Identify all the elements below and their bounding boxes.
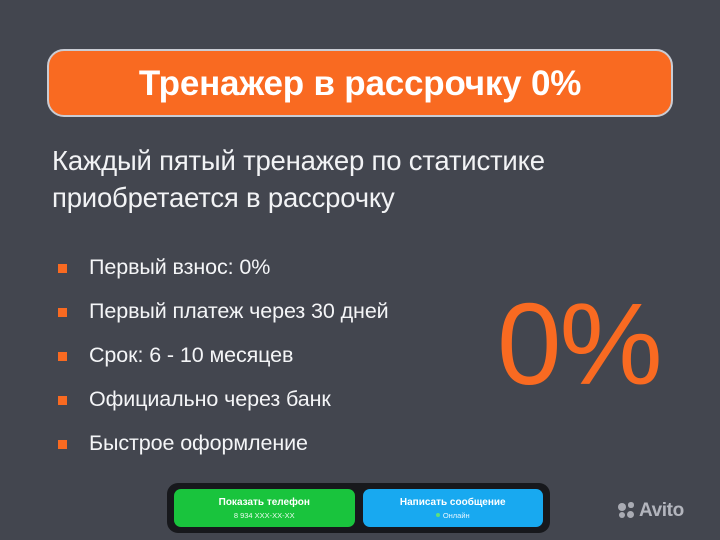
feature-label: Первый взнос: 0% xyxy=(89,257,270,279)
square-bullet-icon xyxy=(58,396,67,405)
list-item: Первый взнос: 0% xyxy=(58,246,528,290)
feature-label: Срок: 6 - 10 месяцев xyxy=(89,345,293,367)
write-message-label: Написать сообщение xyxy=(400,497,506,509)
list-item: Первый платеж через 30 дней xyxy=(58,290,528,334)
avito-wordmark: Avito xyxy=(639,501,684,520)
write-message-button[interactable]: Написать сообщение Онлайн xyxy=(363,489,544,527)
show-phone-label: Показать телефон xyxy=(219,497,310,509)
list-item: Срок: 6 - 10 месяцев xyxy=(58,334,528,378)
phone-number: 8 934 XXX-XX-XX xyxy=(234,511,295,520)
feature-label: Первый платеж через 30 дней xyxy=(89,301,389,323)
contact-bar: Показать телефон 8 934 XXX-XX-XX Написат… xyxy=(167,483,550,533)
feature-label: Официально через банк xyxy=(89,389,331,411)
square-bullet-icon xyxy=(58,352,67,361)
square-bullet-icon xyxy=(58,308,67,317)
list-item: Быстрое оформление xyxy=(58,422,528,466)
square-bullet-icon xyxy=(58,440,67,449)
promo-slide: Тренажер в рассрочку 0% Каждый пятый тре… xyxy=(0,0,720,540)
online-label: Онлайн xyxy=(443,511,470,520)
avito-watermark: Avito xyxy=(618,501,684,520)
online-dot-icon xyxy=(436,513,440,517)
show-phone-button[interactable]: Показать телефон 8 934 XXX-XX-XX xyxy=(174,489,355,527)
feature-list: Первый взнос: 0% Первый платеж через 30 … xyxy=(58,246,528,466)
accent-zero-percent: 0% xyxy=(497,286,661,402)
square-bullet-icon xyxy=(58,264,67,273)
headline-banner: Тренажер в рассрочку 0% xyxy=(47,49,673,117)
headline-text: Тренажер в рассрочку 0% xyxy=(139,66,581,101)
feature-label: Быстрое оформление xyxy=(89,433,308,455)
list-item: Официально через банк xyxy=(58,378,528,422)
avito-dots-icon xyxy=(618,502,635,519)
subtitle-line-1: Каждый пятый тренажер по статистике xyxy=(52,143,682,180)
status-badge: Онлайн xyxy=(436,511,470,520)
subtitle: Каждый пятый тренажер по статистике прио… xyxy=(52,143,682,216)
subtitle-line-2: приобретается в рассрочку xyxy=(52,180,682,217)
